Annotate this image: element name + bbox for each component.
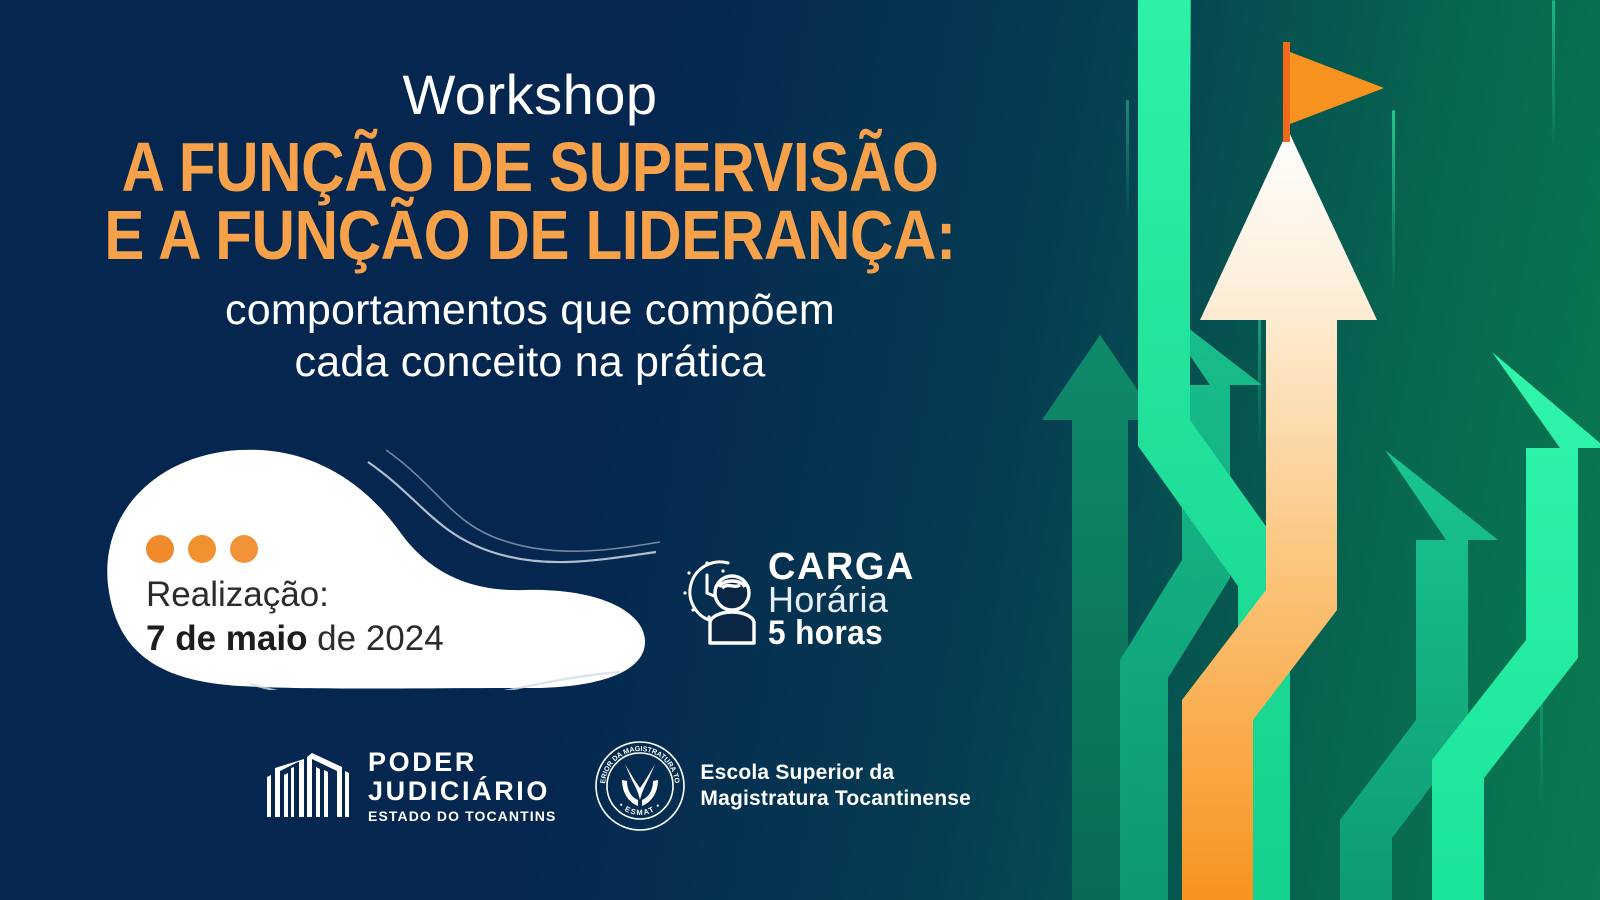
dot-icon: [230, 535, 258, 563]
title-line-2: E A FUNÇÃO DE LIDERANÇA:: [74, 201, 986, 270]
arrow-bright-green-column: [1510, 430, 1560, 900]
esmat-rim-text: ESCOLA SUPERIOR DA MAGISTRATURA TOCANTIN…: [594, 740, 681, 784]
pj-line-3: ESTADO DO TOCANTINS: [368, 809, 556, 823]
workload-line-3: 5 horas: [768, 616, 905, 650]
decorative-dots: [146, 535, 444, 563]
esmat-seal-icon: ESCOLA SUPERIOR DA MAGISTRATURA TOCANTIN…: [594, 740, 686, 832]
title-line-1: A FUNÇÃO DE SUPERVISÃO: [122, 128, 939, 206]
date-blob: Realização: 7 de maio de 2024: [100, 440, 660, 690]
event-date: 7 de maio de 2024: [146, 617, 444, 661]
date-blob-content: Realização: 7 de maio de 2024: [146, 535, 444, 661]
logo-esmat: ESCOLA SUPERIOR DA MAGISTRATURA TOCANTIN…: [594, 740, 971, 832]
arrows-artwork: [1040, 0, 1600, 900]
esmat-line-1: Escola Superior da: [700, 760, 971, 786]
clock-person-icon: [676, 551, 760, 647]
courthouse-building-icon: [258, 751, 354, 821]
headline-block: Workshop A FUNÇÃO DE SUPERVISÃO E A FUNÇ…: [0, 0, 1060, 389]
esmat-text-block: Escola Superior da Magistratura Tocantin…: [700, 760, 971, 811]
page-title: A FUNÇÃO DE SUPERVISÃO E A FUNÇÃO DE LID…: [74, 133, 986, 270]
esmat-line-2: Magistratura Tocantinense: [700, 786, 971, 812]
page-subtitle: comportamentos que compõem cada conceito…: [0, 284, 1060, 389]
event-date-bold: 7 de maio: [146, 619, 307, 658]
pj-text-block: PODER JUDICIÁRIO ESTADO DO TOCANTINS: [368, 749, 556, 823]
pj-line-2: JUDICIÁRIO: [368, 778, 556, 805]
pj-line-1: PODER: [368, 749, 556, 776]
realization-label: Realização:: [146, 573, 444, 617]
dot-icon: [188, 535, 216, 563]
subtitle-line-2: cada conceito na prática: [0, 336, 1060, 388]
workload-badge: CARGA Horária 5 horas: [676, 548, 915, 650]
dot-icon: [146, 535, 174, 563]
footer-logos: PODER JUDICIÁRIO ESTADO DO TOCANTINS ESC…: [258, 740, 971, 832]
event-date-rest: de 2024: [307, 619, 443, 658]
promo-banner: Workshop A FUNÇÃO DE SUPERVISÃO E A FUNÇ…: [0, 0, 1600, 900]
logo-poder-judiciario: PODER JUDICIÁRIO ESTADO DO TOCANTINS: [258, 749, 556, 823]
workload-text: CARGA Horária 5 horas: [768, 548, 915, 650]
kicker-workshop: Workshop: [0, 0, 1060, 125]
subtitle-line-1: comportamentos que compõem: [0, 284, 1060, 336]
summit-flag-icon: [1283, 42, 1384, 142]
esmat-monogram: [622, 764, 658, 806]
